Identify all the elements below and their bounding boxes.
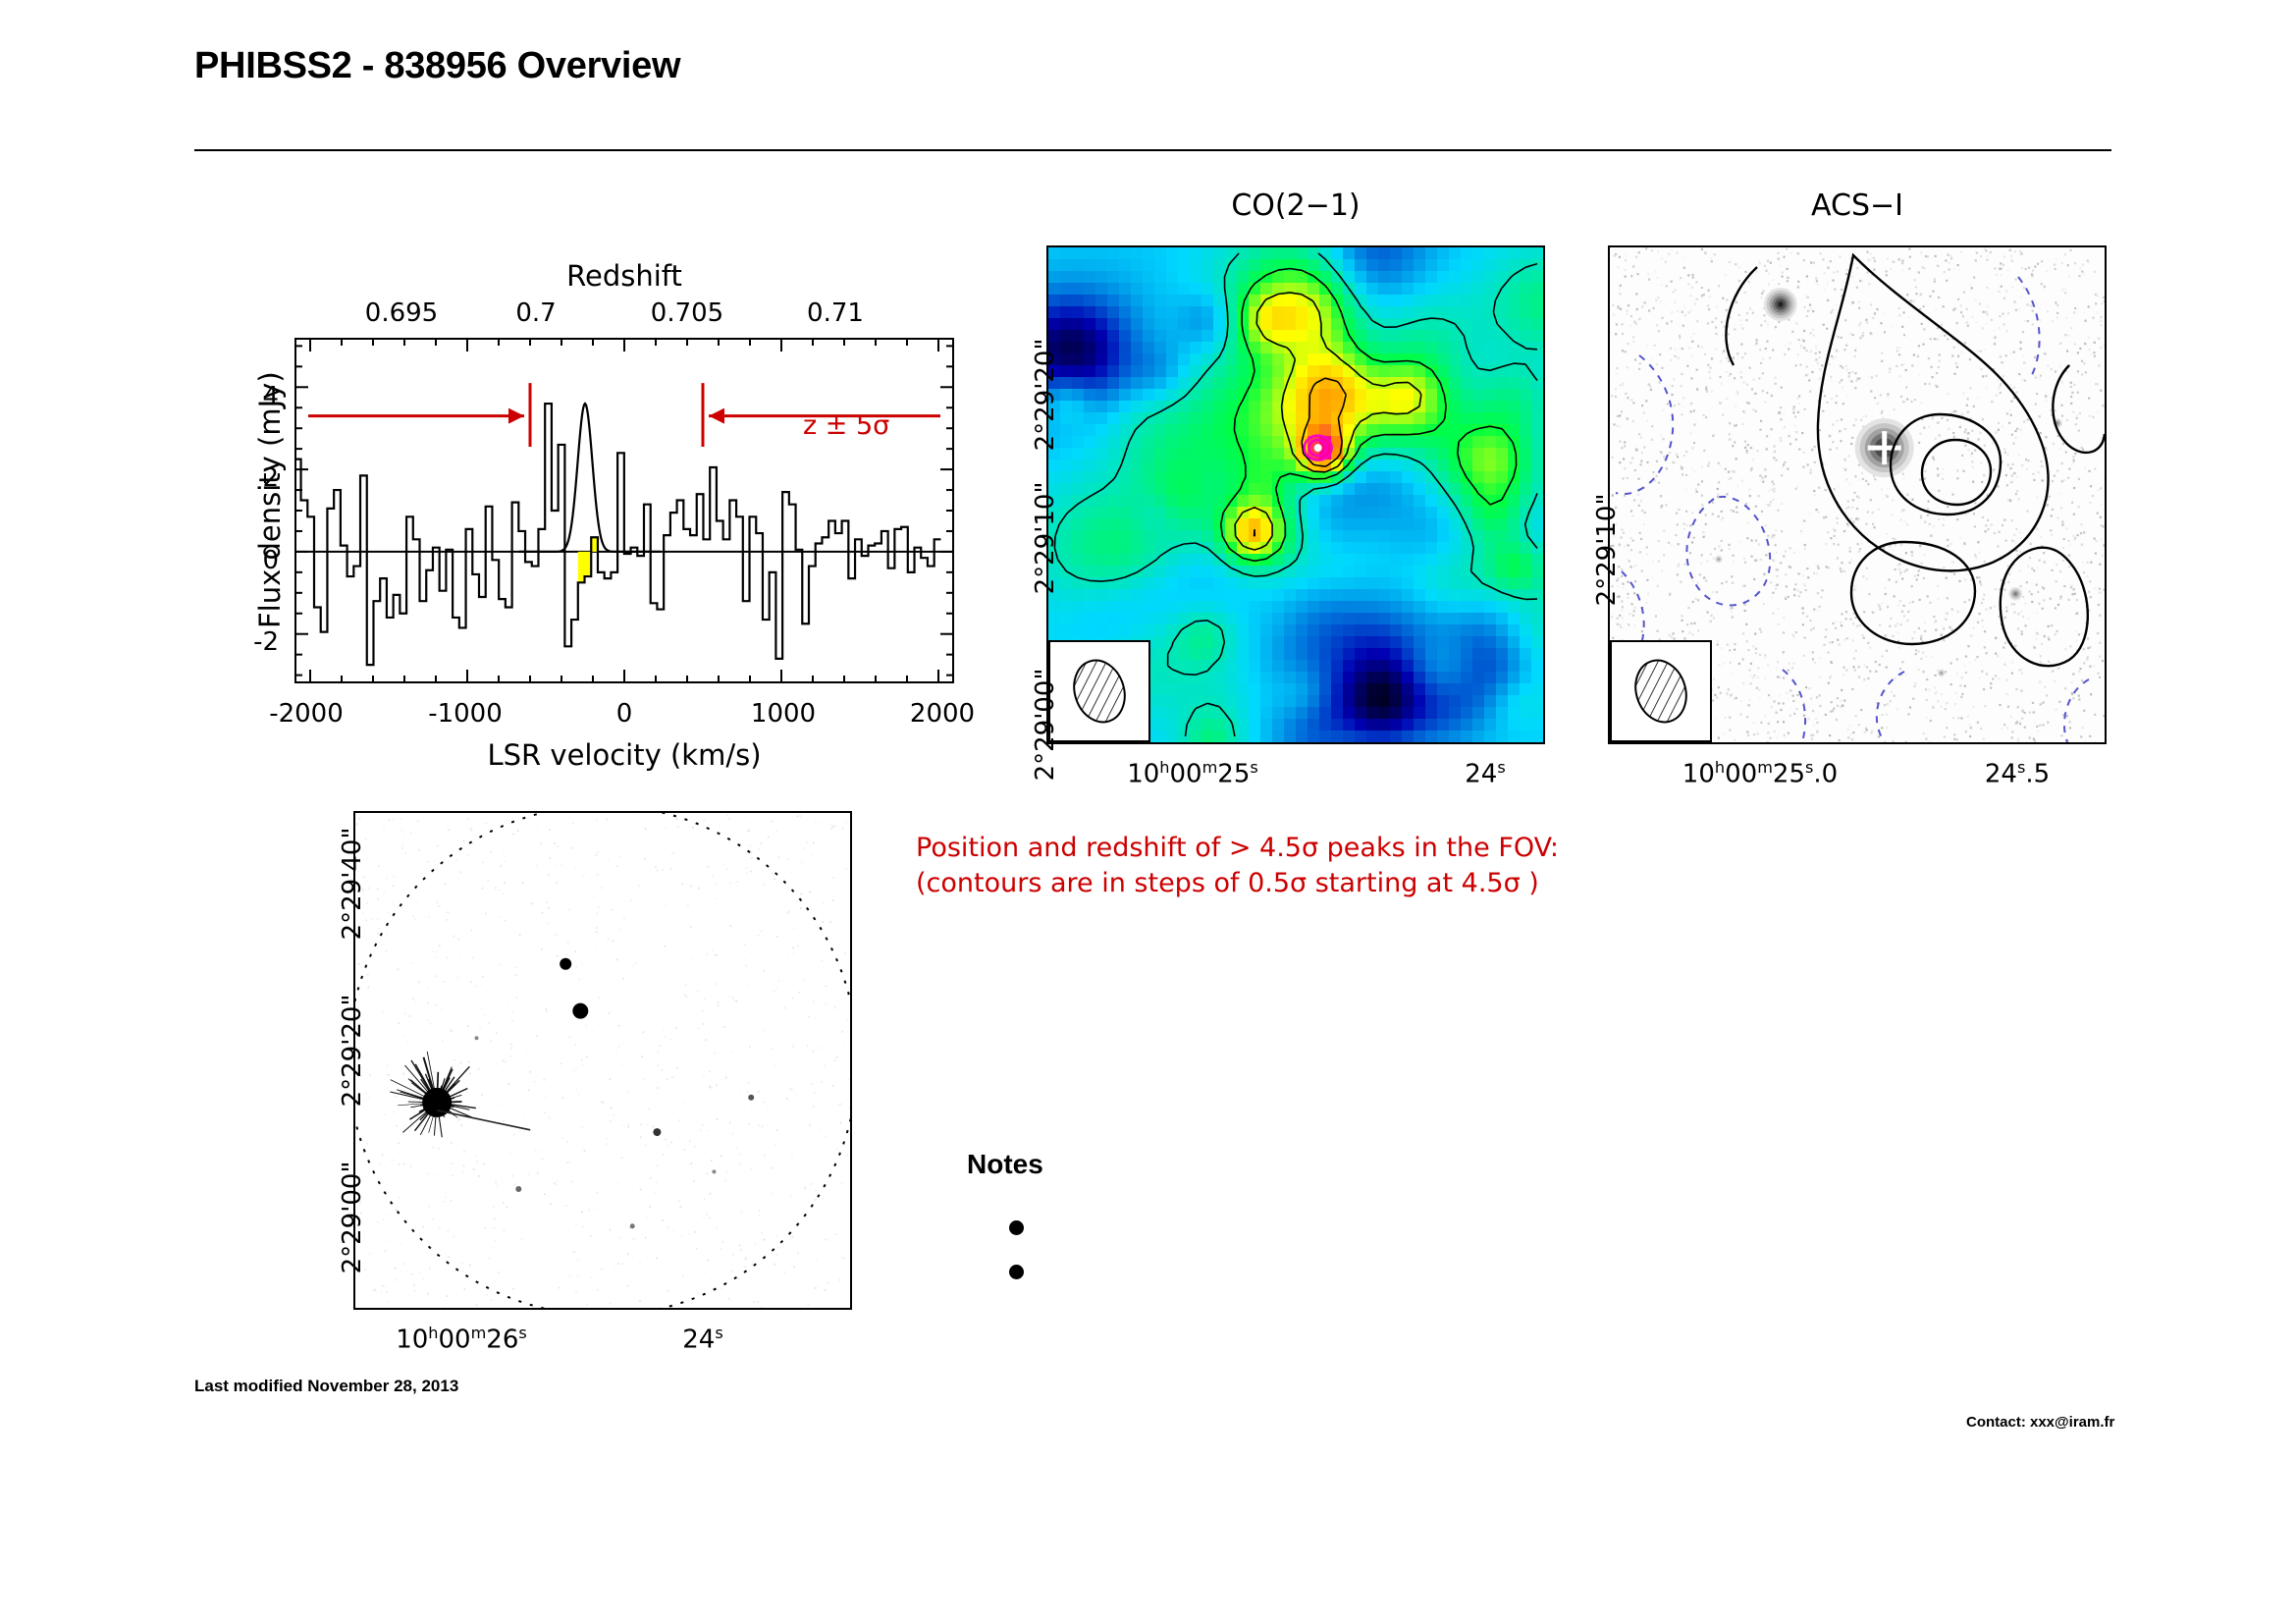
- co-dec-tick-1: 2°29'10": [1031, 482, 1060, 595]
- co-ra1-ssup: s: [1497, 758, 1505, 777]
- co-ra0-h: 10: [1127, 760, 1159, 789]
- acs-ra0-s: 25: [1773, 760, 1805, 789]
- acs-ra-tick-0: 10h00m25s.0: [1682, 758, 1838, 789]
- acs-ra-tick-1: 24s.5: [1985, 758, 2050, 789]
- co-dec-tick-0: 2°29'20": [1031, 339, 1060, 452]
- note-bullet-1: [1009, 1265, 1024, 1279]
- spectrum-x-tick-0: -2000: [269, 699, 344, 729]
- acs-panel-title: ACS−I: [1811, 189, 1903, 223]
- spectrum-top-tick-1: 0.7: [515, 298, 556, 328]
- co-ra-tick-0: 10h00m25s: [1127, 758, 1258, 789]
- fov-ra-tick-1: 24s: [682, 1324, 723, 1355]
- acs-ra1-ssup: s: [2017, 758, 2025, 777]
- fov-ra0-s: 26: [486, 1325, 518, 1355]
- fov-dec-tick-0: 2°29'40": [338, 828, 367, 941]
- header-divider: [194, 149, 2111, 151]
- acs-ra0-hsup: h: [1715, 758, 1725, 777]
- co-ra0-hsup: h: [1159, 758, 1169, 777]
- fov-ra0-msup: m: [471, 1324, 487, 1342]
- co-panel-title: CO(2−1): [1231, 189, 1360, 223]
- spectrum-top-tick-3: 0.71: [807, 298, 864, 328]
- last-modified-text: Last modified November 28, 2013: [194, 1377, 458, 1396]
- spectrum-y-tick-neg2: -2: [253, 627, 279, 657]
- spectrum-x-tick-3: 1000: [751, 699, 816, 729]
- fov-ra0-m: 00: [439, 1325, 471, 1355]
- page-title: PHIBSS2 - 838956 Overview: [194, 45, 680, 87]
- peaks-caption-line1: Position and redshift of > 4.5σ peaks in…: [916, 833, 1559, 863]
- acs-dec-tick-0: 2°29'10": [1592, 494, 1622, 607]
- peaks-caption-line2: (contours are in steps of 0.5σ starting …: [916, 868, 1539, 898]
- co-beam-inset: [1048, 640, 1150, 742]
- fov-map-image: [355, 813, 850, 1308]
- spectrum-top-tick-0: 0.695: [365, 298, 438, 328]
- co-ra1-s: 24: [1465, 760, 1497, 789]
- notes-title: Notes: [967, 1149, 1043, 1180]
- co-ra0-m: 00: [1170, 760, 1202, 789]
- fov-dec-tick-1: 2°29'20": [338, 995, 367, 1108]
- acs-ra0-ssup: s: [1805, 758, 1813, 777]
- spectrum-x-tick-2: 0: [616, 699, 633, 729]
- acs-beam-inset: [1610, 640, 1712, 742]
- co-ra-tick-1: 24s: [1465, 758, 1506, 789]
- fov-ra-tick-0: 10h00m26s: [396, 1324, 527, 1355]
- acs-ra0-h: 10: [1682, 760, 1715, 789]
- co-ra0-ssup: s: [1250, 758, 1257, 777]
- co-ra0-s: 25: [1217, 760, 1250, 789]
- fov-ra0-ssup: s: [518, 1324, 526, 1342]
- contact-text: Contact: xxx@iram.fr: [1966, 1414, 2114, 1431]
- co-dec-tick-2: 2°29'00": [1031, 669, 1060, 782]
- spectrum-top-axis-label: Redshift: [566, 259, 682, 293]
- acs-ra0-msup: m: [1757, 758, 1773, 777]
- spectrum-top-tick-2: 0.705: [651, 298, 723, 328]
- spectrum-plot-area: [294, 338, 954, 683]
- acs-ra1-s: 24: [1985, 760, 2017, 789]
- acs-ra0-m: 00: [1725, 760, 1757, 789]
- fov-map-frame: [353, 811, 852, 1310]
- fov-ra0-hsup: h: [428, 1324, 438, 1342]
- spectrum-x-axis-label: LSR velocity (km/s): [487, 738, 761, 772]
- note-bullet-0: [1009, 1220, 1024, 1235]
- co-ra0-msup: m: [1202, 758, 1218, 777]
- fov-dec-tick-2: 2°29'00": [338, 1162, 367, 1274]
- spectrum-sigma-annotation: z ± 5σ: [803, 410, 889, 441]
- spectrum-y-axis-label: Flux density (mJy): [253, 371, 287, 628]
- acs-ra0-frac: .0: [1813, 760, 1838, 789]
- fov-ra1-ssup: s: [715, 1324, 722, 1342]
- fov-ra0-h: 10: [396, 1325, 428, 1355]
- acs-ra1-frac: .5: [2025, 760, 2050, 789]
- spectrum-x-tick-1: -1000: [428, 699, 503, 729]
- fov-ra1-s: 24: [682, 1325, 715, 1355]
- spectrum-x-tick-4: 2000: [910, 699, 975, 729]
